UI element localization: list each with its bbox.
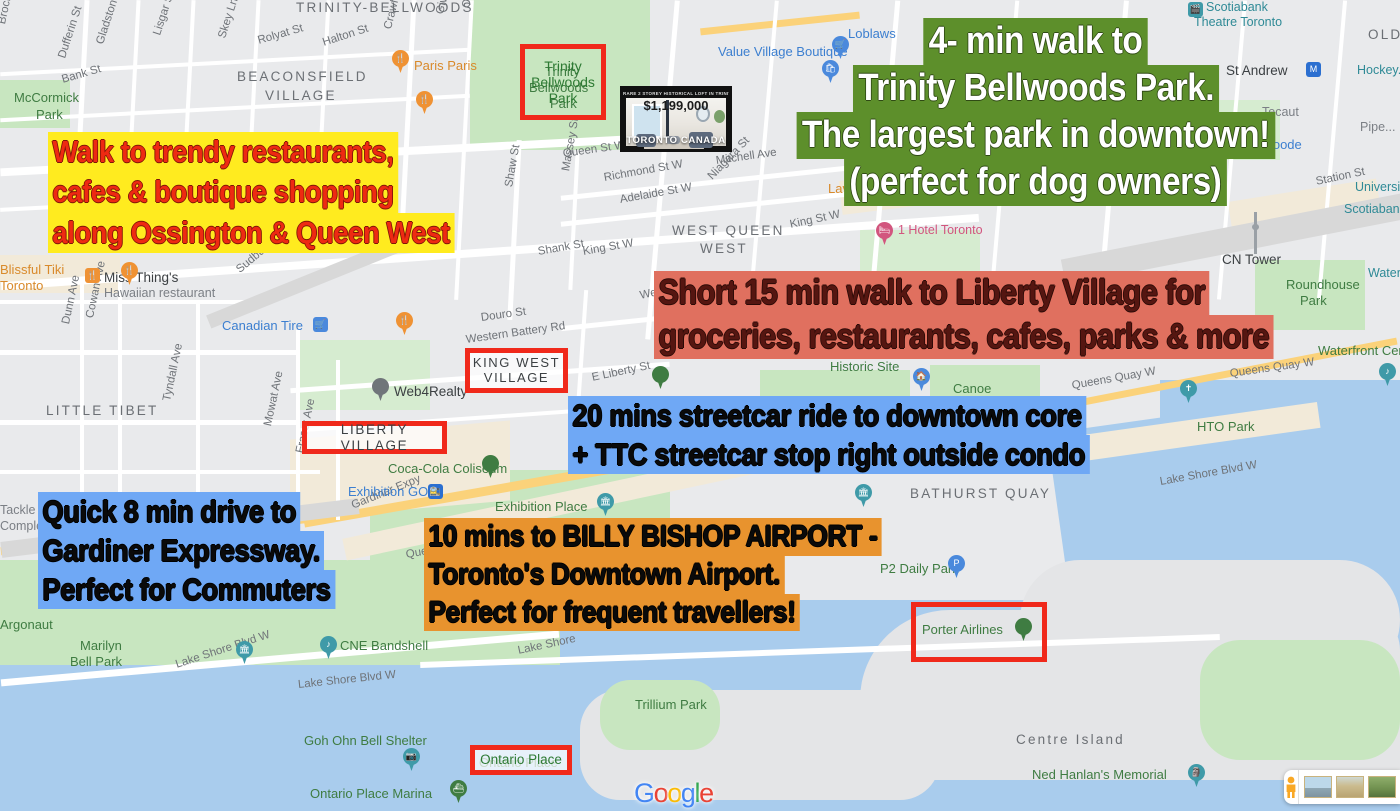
restaurant-icon-miss-things[interactable]: 🍴 [85,268,100,283]
bandshell-pin-cne[interactable]: ♪ [320,636,337,659]
restaurant-pin-paris-paris[interactable]: 🍴 [392,50,409,73]
place-pin-web4realty[interactable] [372,378,389,401]
annotation-line: Gardiner Expressway. [38,531,324,570]
minor-road-5 [0,350,300,355]
trillium-park-green [600,680,720,750]
highlight-box-ontario-place[interactable]: Ontario Place [470,745,572,775]
annotation-line: along Ossington & Queen West [48,213,454,253]
restaurant-pin-blissful-tiki[interactable]: 🍴 [121,262,138,285]
music-pin[interactable]: ♪ [1379,363,1396,386]
venue-pin-coca-cola-coliseum[interactable] [482,455,499,478]
camera-pin-goh-ohn[interactable]: 📷 [403,748,420,771]
marina-pin-ontario-place[interactable]: ⛴ [450,780,467,803]
google-logo: Google [634,778,713,809]
highlight-box-label: Ontario Place [475,750,567,770]
parking-pin-p2-daily[interactable]: P [948,555,965,578]
photo-top-caption: RARE 2 STOREY HISTORICAL LOFT IN TRINITY… [623,91,729,96]
annotation-line: Perfect for frequent travellers! [424,594,800,632]
highlight-box-label: KING WESTVILLAGE [470,353,563,388]
highlight-box-label: TrinityBellwoodsPark [525,49,601,115]
hotel-pin-1-hotel-toronto[interactable]: 🛏 [876,222,893,245]
historic-site-pin[interactable] [652,366,669,389]
annotation-20-min-streetcar-downtown: 20 mins streetcar ride to downtown core+… [568,396,1161,474]
annotation-line: Walk to trendy restaurants, [48,132,398,172]
annotation-4-min-walk-trinity-bellwoods: 4- min walk toTrinity Bellwoods Park.The… [764,18,1308,206]
highlight-box-line: Ontario Place [480,752,562,768]
satellite-thumb[interactable] [1368,776,1396,798]
annotation-line: Perfect for Commuters [38,570,335,609]
cowan-road [118,280,122,520]
monument-pin[interactable]: ✝ [1180,380,1197,403]
restaurant-pin-3[interactable]: 🍴 [396,312,413,335]
terrain-thumb[interactable] [1336,776,1364,798]
annotation-10-min-billy-bishop-airport: 10 mins to BILLY BISHOP AIRPORT -Toronto… [424,518,944,631]
annotation-line: 10 mins to BILLY BISHOP AIRPORT - [424,518,882,556]
go-train-icon-exhibition[interactable]: 🚉 [428,484,443,499]
attraction-pin-bathurst-quay[interactable]: 🏛 [855,484,872,507]
annotation-line: groceries, restaurants, cafes, parks & m… [654,315,1274,359]
dunn-road [80,280,84,520]
highlight-box-king-west-village[interactable]: KING WESTVILLAGE [465,348,568,393]
highlight-box-line: KING WEST [473,356,560,371]
minor-road-4 [0,300,260,304]
pegman-icon[interactable] [1284,770,1299,804]
memorial-pin-ned-hanlan[interactable]: 🗿 [1188,764,1205,787]
annotation-line: Short 15 min walk to Liberty Village for [654,271,1209,315]
photo-price: $1,199,000 [623,98,729,113]
attraction-pin-marilyn-bell[interactable]: 🏛 [236,641,253,664]
street-view-thumb[interactable] [1304,776,1332,798]
subway-icon-st-andrew[interactable]: M [1306,62,1321,77]
highlight-box-liberty-village[interactable]: LIBERTY VILLAGE [302,421,447,454]
street-view-control[interactable] [1284,770,1400,804]
tyndall-road [196,300,200,520]
map-screenshot: TRINITY-BELLWOODSBEACONSFIELDVILLAGEWEST… [0,0,1400,811]
annotation-15-min-walk-liberty-village: Short 15 min walk to Liberty Village for… [654,271,1358,359]
photo-bottom-caption: TORONTO CANADA [623,135,729,146]
annotation-walk-to-trendy-restaurants: Walk to trendy restaurants,cafes & bouti… [48,132,510,253]
highlight-box-line: LIBERTY VILLAGE [307,422,442,453]
theatre-icon-scotiabank[interactable]: 🎬 [1188,2,1203,17]
island-park [1200,640,1400,760]
annotation-line: The largest park in downtown! [797,112,1275,159]
restaurant-pin-2[interactable]: 🍴 [416,91,433,114]
highlight-box-line: Bellwoods [531,74,595,90]
attraction-pin-exhibition-place[interactable]: 🏛 [597,493,614,516]
annotation-line: Quick 8 min drive to [38,492,301,531]
highlight-box-line: Park [549,90,578,106]
green-patch-2 [300,340,430,410]
annotation-line: (perfect for dog owners) [845,159,1227,206]
annotation-line: Trinity Bellwoods Park. [853,65,1219,112]
annotation-8-min-drive-gardiner: Quick 8 min drive toGardiner Expressway.… [38,492,376,609]
landmark-pin-fort-york[interactable]: 🏠 [913,368,930,391]
annotation-line: Toronto's Downtown Airport. [424,556,784,594]
cn-tower-icon [1252,212,1259,254]
annotation-line: + TTC streetcar stop right outside condo [568,435,1089,474]
annotation-line: cafes & boutique shopping [48,172,398,212]
minor-road-7 [0,470,320,474]
minor-road-6 [0,420,300,425]
annotation-line: 4- min walk to [924,18,1148,65]
highlight-box-line: Trinity [544,58,582,74]
map-type-thumbnails[interactable] [1299,776,1400,798]
highlight-box-trinity-bellwoods-park[interactable]: TrinityBellwoodsPark [520,44,606,120]
listing-photo-thumbnail[interactable]: RARE 2 STOREY HISTORICAL LOFT IN TRINITY… [620,86,732,152]
store-icon-canadian-tire[interactable]: 🛒 [313,317,328,332]
annotation-line: 20 mins streetcar ride to downtown core [568,396,1086,435]
highlight-box-label: LIBERTY VILLAGE [307,426,442,449]
highlight-box-line: VILLAGE [484,371,549,386]
